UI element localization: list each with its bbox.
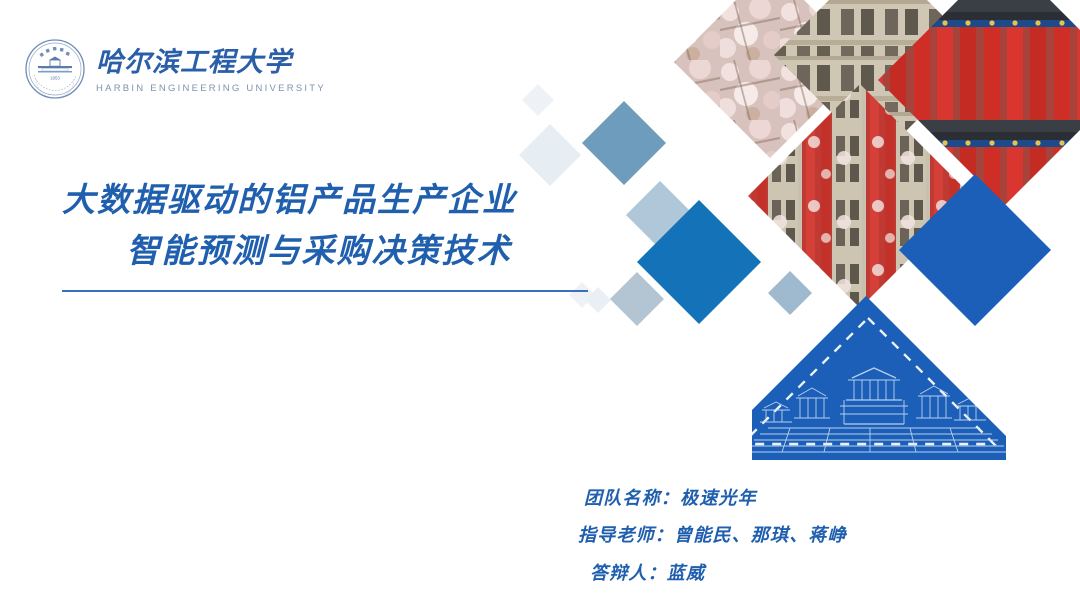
- university-logo: 1953 哈尔滨工程大学 HARBIN ENGINEERING UNIVERSI…: [24, 38, 326, 100]
- title-line-2: 智能预测与采购决策技术: [62, 227, 602, 278]
- diamond-deep-blue-lg: [899, 174, 1051, 326]
- photo-diamond-group: [660, 0, 1080, 320]
- logo-wordmark: 哈尔滨工程大学 HARBIN ENGINEERING UNIVERSITY: [96, 45, 326, 94]
- slide-title: 大数据驱动的铝产品生产企业 智能预测与采购决策技术: [62, 176, 602, 278]
- diamond-pale-xs-b: [585, 287, 611, 313]
- university-english-name: HARBIN ENGINEERING UNIVERSITY: [96, 83, 326, 94]
- university-chinese-name: 哈尔滨工程大学: [96, 45, 296, 79]
- diamond-pale-xs-a: [569, 282, 595, 308]
- diamond-steel-md: [582, 101, 666, 185]
- credit-team-name: 团队名称：极速光年: [578, 480, 998, 517]
- dashed-triangle-guide: [742, 318, 994, 444]
- photo-blossom-corridor: [740, 70, 990, 320]
- svg-text:1953: 1953: [50, 76, 60, 81]
- university-seal-icon: 1953: [24, 38, 86, 100]
- diamond-pale-xs-top: [522, 84, 554, 116]
- title-underline-rule: [62, 290, 588, 292]
- title-line-1: 大数据驱动的铝产品生产企业: [62, 176, 602, 227]
- diamond-steel-sm-right: [768, 271, 812, 315]
- campus-skyline-line-art: [748, 368, 1006, 452]
- university-chinese-name-text: 哈尔滨工程大学: [96, 47, 295, 77]
- diamond-bright-lg: [637, 200, 761, 324]
- credit-advisors: 指导老师：曾能民、那琪、蒋峥: [578, 517, 998, 554]
- credit-presenter: 答辩人：蓝威: [578, 555, 998, 592]
- campus-line-art-panel: [742, 296, 1006, 460]
- photo-red-pavilion: [870, 0, 1080, 220]
- photo-campus-building: [760, 0, 1000, 180]
- diamond-gray-blue-sm: [610, 272, 664, 326]
- presentation-slide: 1953 哈尔滨工程大学 HARBIN ENGINEERING UNIVERSI…: [0, 0, 1080, 607]
- photo-cherry-blossom: [660, 0, 880, 170]
- diamond-pale-blue-md: [626, 181, 694, 249]
- credits-block: 团队名称：极速光年 指导老师：曾能民、那琪、蒋峥 答辩人：蓝威: [578, 480, 998, 592]
